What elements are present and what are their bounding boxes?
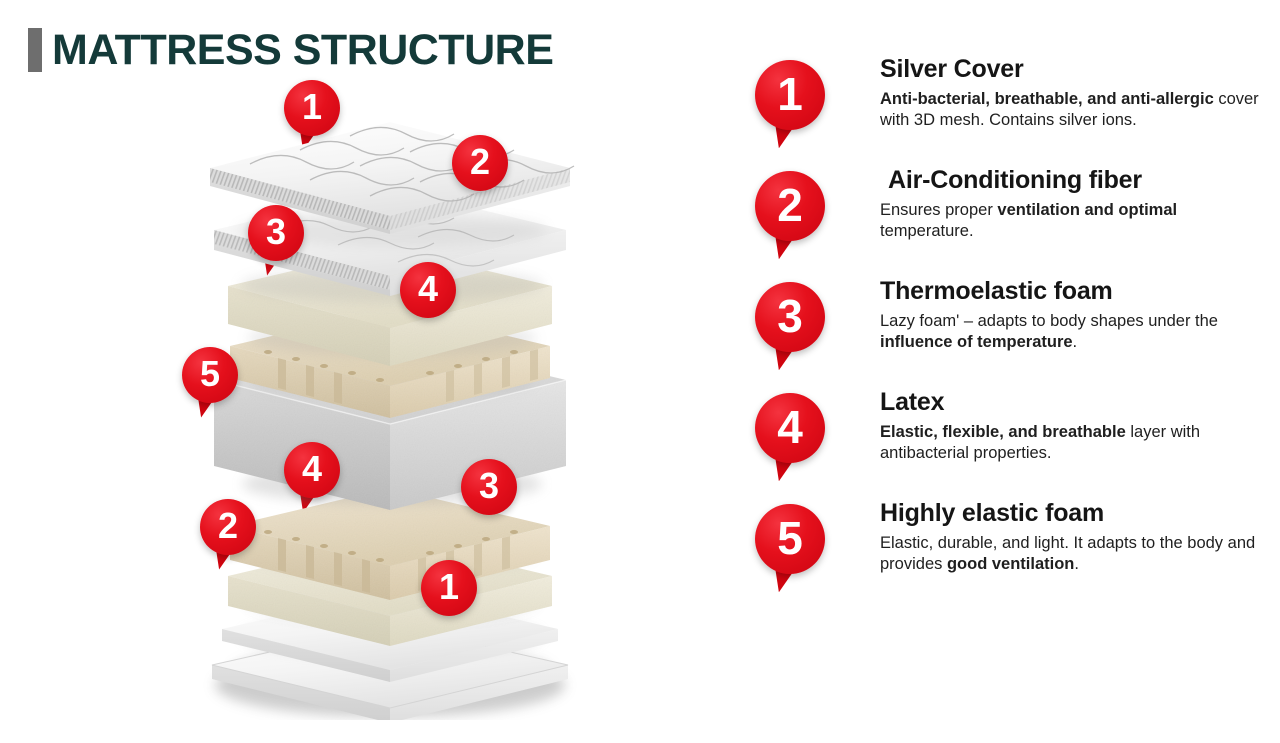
title-accent-bar (28, 28, 42, 72)
legend-description: Lazy foam' – adapts to body shapes under… (880, 311, 1270, 355)
marker-circle: 5 (182, 347, 238, 403)
legend-item-highly-elastic-foam[interactable]: 5 Highly elastic foam Elastic, durable, … (755, 500, 1270, 611)
marker-number: 2 (470, 144, 490, 180)
marker-circle: 2 (200, 499, 256, 555)
illustration-marker-2-top[interactable]: 2 (452, 135, 508, 191)
illustration-marker-1-bottom[interactable]: 1 (421, 560, 477, 616)
marker-number: 3 (266, 214, 286, 250)
marker-number: 5 (200, 356, 220, 392)
legend-desc-pre: Lazy foam' – adapts to body shapes under… (880, 312, 1218, 330)
illustration-marker-4-bottom[interactable]: 4 (284, 442, 340, 498)
marker-number: 5 (777, 515, 803, 561)
infographic-page: MATTRESS STRUCTURE (0, 0, 1280, 743)
illustration-marker-1-top[interactable]: 1 (284, 80, 340, 136)
marker-circle: 4 (755, 393, 825, 463)
legend-text-block: Air-Conditioning fiber Ensures proper ve… (880, 167, 1270, 243)
legend-title: Thermoelastic foam (880, 278, 1270, 306)
legend-title: Latex (880, 389, 1270, 417)
legend-title: Highly elastic foam (880, 500, 1270, 528)
legend-desc-bold: influence of temperature (880, 333, 1073, 351)
legend-text-block: Silver Cover Anti-bacterial, breathable,… (880, 56, 1270, 132)
legend-desc-bold: ventilation and optimal (997, 201, 1177, 219)
marker-number: 4 (418, 271, 438, 307)
legend-desc-bold: good ventilation (947, 555, 1074, 573)
legend-marker-5[interactable]: 5 (755, 504, 825, 574)
marker-circle: 4 (400, 262, 456, 318)
legend-description: Anti-bacterial, breathable, and anti-all… (880, 89, 1270, 133)
marker-number: 4 (302, 451, 322, 487)
legend-item-silver-cover[interactable]: 1 Silver Cover Anti-bacterial, breathabl… (755, 56, 1270, 167)
marker-circle: 1 (421, 560, 477, 616)
legend-list: 1 Silver Cover Anti-bacterial, breathabl… (755, 56, 1270, 611)
legend-item-thermoelastic-foam[interactable]: 3 Thermoelastic foam Lazy foam' – adapts… (755, 278, 1270, 389)
marker-circle: 4 (284, 442, 340, 498)
legend-description: Elastic, flexible, and breathable layer … (880, 422, 1270, 466)
illustration-marker-3-bottom[interactable]: 3 (461, 459, 517, 515)
page-title: MATTRESS STRUCTURE (28, 28, 553, 72)
legend-item-air-conditioning-fiber[interactable]: 2 Air-Conditioning fiber Ensures proper … (755, 167, 1270, 278)
marker-circle: 2 (452, 135, 508, 191)
legend-description: Ensures proper ventilation and optimal t… (880, 200, 1270, 244)
marker-circle: 3 (755, 282, 825, 352)
marker-circle: 1 (284, 80, 340, 136)
illustration-marker-4-top[interactable]: 4 (400, 262, 456, 318)
legend-marker-3[interactable]: 3 (755, 282, 825, 352)
legend-title: Air-Conditioning fiber (880, 167, 1270, 195)
legend-description: Elastic, durable, and light. It adapts t… (880, 533, 1270, 577)
marker-number: 1 (302, 89, 322, 125)
illustration-marker-3-top[interactable]: 3 (248, 205, 304, 261)
legend-title: Silver Cover (880, 56, 1270, 84)
marker-circle: 5 (755, 504, 825, 574)
marker-number: 1 (439, 569, 459, 605)
legend-desc-bold: Anti-bacterial, breathable, and anti-all… (880, 90, 1214, 108)
marker-circle: 1 (755, 60, 825, 130)
title-label: MATTRESS STRUCTURE (52, 29, 553, 72)
marker-number: 3 (777, 293, 803, 339)
legend-item-latex[interactable]: 4 Latex Elastic, flexible, and breathabl… (755, 389, 1270, 500)
legend-desc-pre: Ensures proper (880, 201, 997, 219)
mattress-layers-illustration: 1 2 3 4 5 4 (100, 80, 660, 720)
legend-marker-2[interactable]: 2 (755, 171, 825, 241)
legend-text-block: Latex Elastic, flexible, and breathable … (880, 389, 1270, 465)
legend-marker-1[interactable]: 1 (755, 60, 825, 130)
illustration-marker-5-core[interactable]: 5 (182, 347, 238, 403)
legend-desc-bold: Elastic, flexible, and breathable (880, 423, 1126, 441)
legend-desc-rest: . (1074, 555, 1079, 573)
marker-circle: 3 (461, 459, 517, 515)
marker-number: 4 (777, 404, 803, 450)
marker-circle: 2 (755, 171, 825, 241)
legend-desc-rest: temperature. (880, 222, 974, 240)
marker-number: 2 (777, 182, 803, 228)
marker-number: 1 (777, 71, 803, 117)
marker-number: 2 (218, 508, 238, 544)
legend-marker-4[interactable]: 4 (755, 393, 825, 463)
legend-text-block: Highly elastic foam Elastic, durable, an… (880, 500, 1270, 576)
legend-text-block: Thermoelastic foam Lazy foam' – adapts t… (880, 278, 1270, 354)
marker-number: 3 (479, 468, 499, 504)
legend-desc-rest: . (1073, 333, 1078, 351)
illustration-marker-2-bottom[interactable]: 2 (200, 499, 256, 555)
marker-circle: 3 (248, 205, 304, 261)
